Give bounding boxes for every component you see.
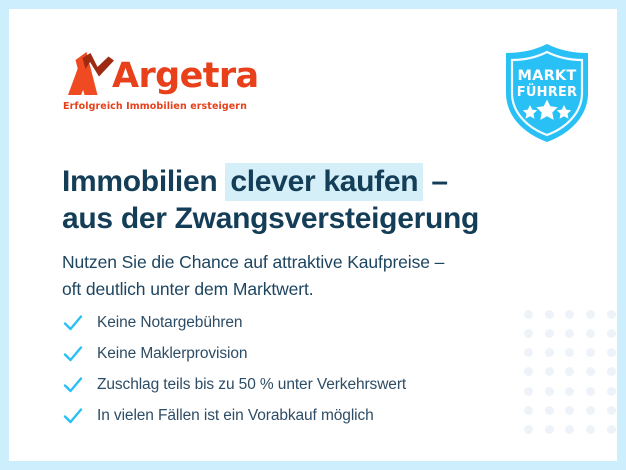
list-item-label: In vielen Fällen ist ein Vorabkauf mögli…	[97, 408, 374, 424]
decorative-dot-grid	[518, 305, 617, 439]
check-icon	[62, 312, 84, 334]
list-item-label: Zuschlag teils bis zu 50 % unter Verkehr…	[97, 377, 406, 393]
list-item-label: Keine Maklerprovision	[97, 346, 247, 362]
banner-canvas: Argetra Erfolgreich Immobilien ersteiger…	[9, 9, 617, 461]
market-leader-badge: MARKT FÜHRER	[499, 41, 595, 145]
list-item-label: Keine Notargebühren	[97, 315, 242, 331]
headline-line-2: aus der Zwangsversteigerung	[62, 202, 479, 235]
headline-highlight: clever kaufen	[225, 163, 423, 201]
logo-tagline: Erfolgreich Immobilien ersteigern	[63, 101, 247, 112]
page-title: Immobilien clever kaufen – aus der Zwang…	[62, 163, 532, 237]
headline-suffix: –	[423, 165, 447, 198]
list-item: Keine Notargebühren	[62, 307, 512, 338]
argetra-logo[interactable]: Argetra Erfolgreich Immobilien ersteiger…	[62, 51, 262, 115]
headline-line-1: Immobilien clever kaufen –	[62, 163, 448, 201]
check-icon	[62, 405, 84, 427]
list-item: Keine Maklerprovision	[62, 338, 512, 369]
subtitle-line-2: oft deutlich unter dem Marktwert.	[62, 279, 314, 299]
headline-prefix: Immobilien	[62, 165, 225, 198]
check-icon	[62, 374, 84, 396]
promo-banner: Argetra Erfolgreich Immobilien ersteiger…	[0, 0, 626, 470]
logo-wordmark: Argetra	[112, 59, 259, 94]
check-icon	[62, 343, 84, 365]
list-item: In vielen Fällen ist ein Vorabkauf mögli…	[62, 400, 512, 431]
benefits-list: Keine Notargebühren Keine Maklerprovisio…	[62, 307, 512, 431]
subtitle-line-1: Nutzen Sie die Chance auf attraktive Kau…	[62, 252, 444, 272]
shield-icon	[499, 41, 595, 145]
subtitle: Nutzen Sie die Chance auf attraktive Kau…	[62, 249, 542, 303]
argetra-a-mountain-icon	[62, 51, 118, 103]
list-item: Zuschlag teils bis zu 50 % unter Verkehr…	[62, 369, 512, 400]
